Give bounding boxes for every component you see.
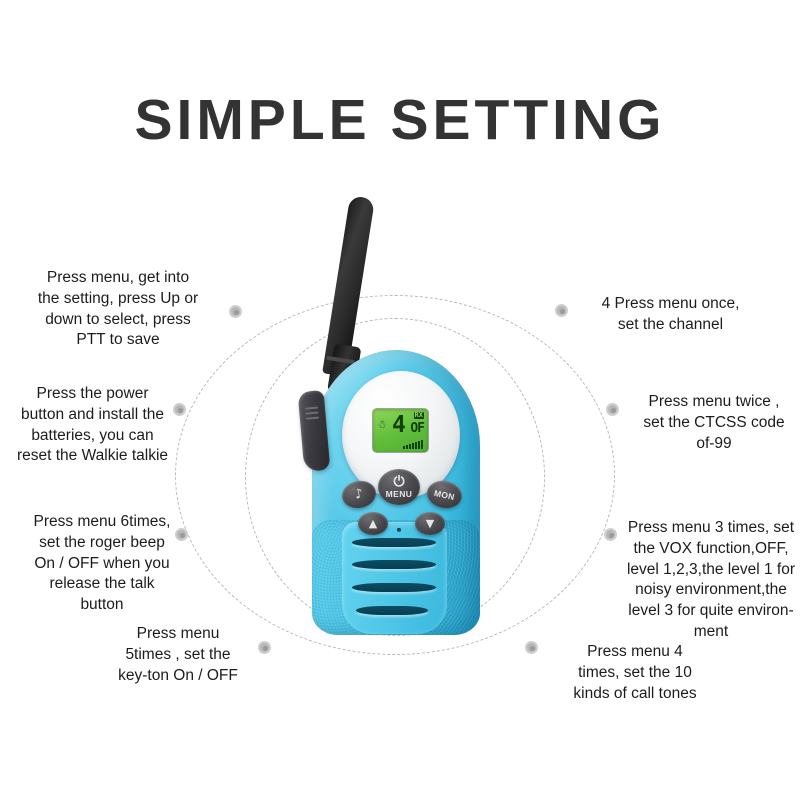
microphone-hole [397,528,401,532]
walkie-talkie-device: ☃ 4 RX OF ♪ ⏻ MENU MON ▲ ▼ [285,195,515,635]
callout-vox-function: Press menu 3 times, set the VOX function… [622,518,800,643]
power-menu-button[interactable]: ⏻ MENU [378,469,420,505]
signal-bar [415,442,417,449]
lcd-code-value: OF [410,422,424,435]
signal-bar [418,441,420,449]
callout-call-tones: Press menu 4 times, set the 10 kinds of … [545,642,725,704]
lcd-channel-value: 4 [392,414,406,437]
connector-dot [525,641,538,654]
infographic-canvas: SIMPLE SETTING Press menu, get into the … [0,0,800,800]
connector-dot [175,528,188,541]
triangle-up-icon: ▲ [369,517,377,530]
signal-bar [409,444,411,449]
connector-dot [173,403,186,416]
speaker-grille [312,520,480,635]
speaker-slot [352,538,436,547]
connector-dot [258,641,271,654]
music-note-icon: ♪ [353,486,364,502]
grille-panel [342,522,447,634]
page-title: SIMPLE SETTING [0,92,800,149]
callout-key-tone: Press menu 5times , set the key-ton On /… [88,624,268,686]
speaker-slot [352,560,436,569]
callout-ctcss-code: Press menu twice , set the CTCSS code of… [628,392,800,454]
signal-bar [412,443,414,449]
connector-dot [604,528,617,541]
callout-set-channel: 4 Press menu once, set the channel [578,294,763,336]
connector-dot [229,305,242,318]
signal-bars-icon [403,438,423,449]
lcd-rx-tag: RX [414,412,424,419]
triangle-down-icon: ▼ [426,517,434,530]
lcd-display: ☃ 4 RX OF [372,408,429,453]
menu-button-label: MENU [386,490,413,499]
power-icon: ⏻ [393,476,404,489]
connector-dot [606,403,619,416]
signal-bar [421,440,423,449]
speaker-slot [352,583,436,592]
up-button[interactable]: ▲ [358,512,388,535]
down-button[interactable]: ▼ [415,512,445,535]
person-icon: ☃ [377,419,387,430]
speaker-slot [356,606,428,615]
signal-bar [406,445,408,449]
connector-dot [555,304,568,317]
callout-roger-beep: Press menu 6times, set the roger beep On… [12,512,192,616]
callout-menu-navigate: Press menu, get into the setting, press … [18,268,218,351]
ptt-ridges-icon [305,407,319,422]
signal-bar [403,446,405,449]
monitor-button-label: MON [433,487,455,501]
callout-power-batteries: Press the power button and install the b… [0,384,185,467]
